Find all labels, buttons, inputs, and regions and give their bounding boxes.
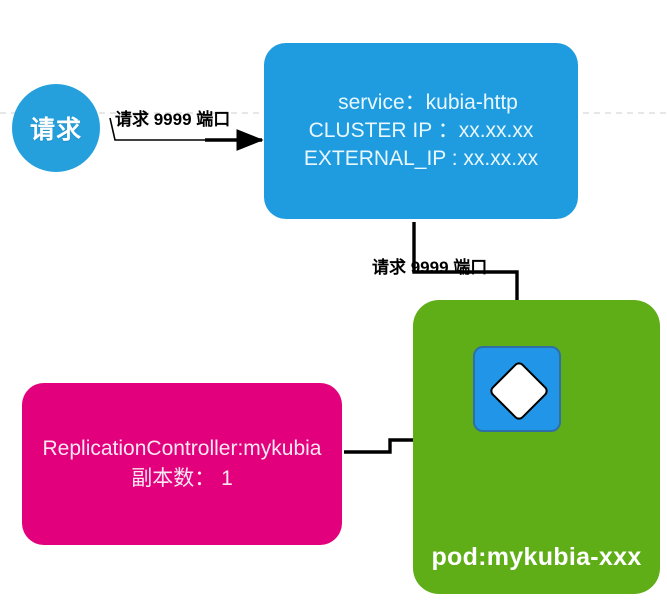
pod-label: pod:mykubia-xxx bbox=[413, 543, 660, 572]
service-cluster-ip-line: CLUSTER IP ：xx.xx.xx bbox=[309, 117, 534, 145]
pod-container[interactable] bbox=[473, 346, 561, 432]
container-diamond-icon bbox=[488, 360, 550, 422]
service-name-line: service：kubia-http bbox=[324, 89, 518, 117]
edge-label-service-to-pod: 请求 9999 端口 bbox=[372, 253, 487, 278]
diagram-canvas: 请求 service：kubia-http CLUSTER IP ：xx.xx.… bbox=[0, 0, 667, 602]
service-external-ip-line: EXTERNAL_IP : xx.xx.xx bbox=[304, 145, 538, 173]
node-request[interactable]: 请求 bbox=[12, 84, 100, 172]
node-service[interactable]: service：kubia-http CLUSTER IP ：xx.xx.xx … bbox=[264, 43, 578, 219]
node-replication-controller[interactable]: ReplicationController:mykubia 副本数： 1 bbox=[22, 383, 342, 545]
rc-name-line: ReplicationController:mykubia bbox=[43, 434, 322, 464]
node-pod[interactable]: pod:mykubia-xxx @稀土掘金技术社区 @稀土掘金技术社区 bbox=[413, 300, 660, 594]
edge-label-request-to-service: 请求 9999 端口 bbox=[115, 105, 230, 130]
rc-replicas-line: 副本数： 1 bbox=[131, 464, 233, 494]
request-label: 请求 bbox=[30, 110, 82, 146]
